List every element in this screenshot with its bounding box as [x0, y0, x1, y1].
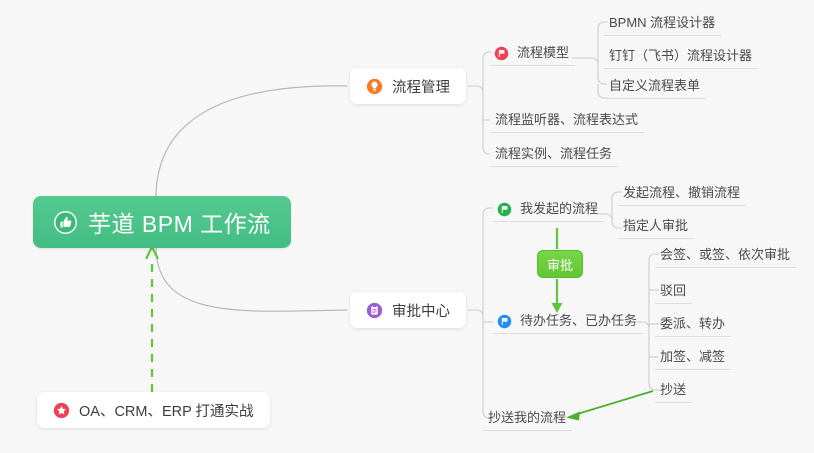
- link-model-spine: [572, 58, 607, 84]
- node-start-cancel-process-label: 发起流程、撤销流程: [623, 182, 740, 201]
- branch-approval-center[interactable]: 审批中心: [350, 292, 466, 328]
- cc-flow-arrow-group: [566, 391, 653, 421]
- node-countersign[interactable]: 会签、或签、依次审批: [655, 240, 796, 268]
- node-instance-task[interactable]: 流程实例、流程任务: [490, 139, 618, 167]
- node-countersign-label: 会签、或签、依次审批: [660, 244, 790, 263]
- node-todo-done-tasks[interactable]: 待办任务、已办任务: [493, 306, 643, 334]
- node-assignee-approval-label: 指定人审批: [623, 215, 688, 234]
- node-bpmn-designer-label: BPMN 流程设计器: [609, 12, 715, 31]
- node-dingtalk-designer-label: 钉钉（飞书）流程设计器: [609, 45, 752, 64]
- node-bpmn-designer[interactable]: BPMN 流程设计器: [604, 8, 721, 36]
- approval-tag-label: 审批: [547, 255, 573, 274]
- thumbs-up-icon: [53, 210, 78, 235]
- node-cc-label: 抄送: [660, 379, 686, 398]
- integration-node-label: OA、CRM、ERP 打通实战: [79, 400, 254, 421]
- node-delegate-transfer-label: 委派、转办: [660, 313, 725, 332]
- clipboard-icon: [366, 302, 383, 319]
- node-delegate-transfer[interactable]: 委派、转办: [655, 309, 731, 337]
- node-cc[interactable]: 抄送: [655, 375, 692, 403]
- flag-icon: [497, 314, 512, 329]
- integration-arrow-group: [147, 247, 158, 392]
- link-root-to-approval-center: [156, 246, 347, 311]
- integration-arrow-head: [147, 247, 158, 258]
- node-start-cancel-process[interactable]: 发起流程、撤销流程: [618, 178, 746, 206]
- node-add-remove-sign[interactable]: 加签、减签: [655, 342, 731, 370]
- root-node-label: 芋道 BPM 工作流: [88, 205, 271, 239]
- node-add-remove-sign-label: 加签、减签: [660, 346, 725, 365]
- link-pm-spine: [468, 86, 490, 154]
- node-process-model[interactable]: 流程模型: [490, 38, 575, 66]
- node-listener-expression[interactable]: 流程监听器、流程表达式: [490, 105, 644, 133]
- node-custom-form[interactable]: 自定义流程表单: [604, 71, 706, 99]
- lightbulb-icon: [366, 78, 383, 95]
- node-custom-form-label: 自定义流程表单: [609, 75, 700, 94]
- cc-arrow-line: [574, 391, 653, 415]
- node-my-submitted-process-label: 我发起的流程: [520, 198, 598, 217]
- node-process-model-label: 流程模型: [517, 42, 569, 61]
- node-listener-expression-label: 流程监听器、流程表达式: [495, 109, 638, 128]
- branch-process-management[interactable]: 流程管理: [350, 68, 466, 104]
- integration-node[interactable]: OA、CRM、ERP 打通实战: [37, 392, 270, 428]
- node-todo-done-tasks-label: 待办任务、已办任务: [520, 310, 637, 329]
- link-ac-spine: [468, 310, 493, 418]
- node-reject[interactable]: 驳回: [655, 276, 692, 304]
- node-dingtalk-designer[interactable]: 钉钉（飞书）流程设计器: [604, 41, 758, 69]
- node-cc-to-me[interactable]: 抄送我的流程: [483, 403, 572, 431]
- flag-icon: [494, 46, 509, 61]
- branch-approval-center-label: 审批中心: [392, 300, 450, 321]
- star-icon: [53, 402, 70, 419]
- link-root-to-process-mgmt: [156, 86, 347, 198]
- branch-process-management-label: 流程管理: [392, 76, 450, 97]
- approval-tag: 审批: [537, 250, 583, 278]
- node-instance-task-label: 流程实例、流程任务: [495, 143, 612, 162]
- node-assignee-approval[interactable]: 指定人审批: [618, 211, 694, 239]
- mindmap-canvas: 芋道 BPM 工作流 流程管理 流程模型 BPMN 流程设计器 钉钉（飞书）流程…: [0, 0, 814, 453]
- node-cc-to-me-label: 抄送我的流程: [488, 407, 566, 426]
- node-my-submitted-process[interactable]: 我发起的流程: [493, 194, 604, 222]
- flag-icon: [497, 202, 512, 217]
- root-node[interactable]: 芋道 BPM 工作流: [33, 196, 291, 248]
- link-ac-child-1: [483, 208, 493, 214]
- node-reject-label: 驳回: [660, 280, 686, 299]
